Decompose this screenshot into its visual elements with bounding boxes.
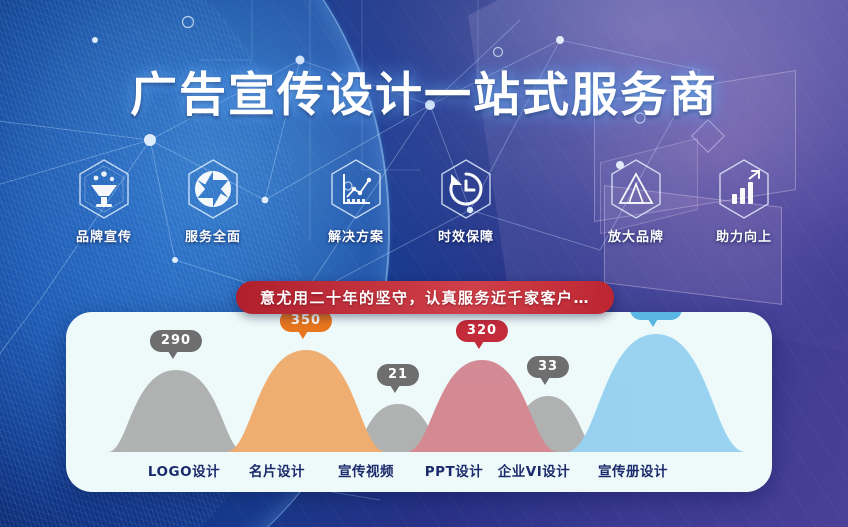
feature-label: 品牌宣传 <box>58 226 150 245</box>
hump-logo <box>108 370 244 452</box>
bubble-tail <box>168 351 178 359</box>
chart-category-label: 企业VI设计 <box>498 460 570 480</box>
chart-category-label: 名片设计 <box>249 460 305 480</box>
chart-category-label: 宣传册设计 <box>598 460 668 480</box>
page-title: 广告宣传设计一站式服务商 <box>0 56 848 125</box>
bubble-tail <box>474 341 484 349</box>
value-bubble-pill: 290 <box>150 330 202 352</box>
feature-label: 时效保障 <box>420 226 512 245</box>
bar-growth-icon <box>716 158 772 220</box>
value-bubble: 290 <box>150 330 202 359</box>
bubble-tail <box>540 377 550 385</box>
feature-item[interactable]: 时效保障 <box>420 158 512 245</box>
value-bubble: 21 <box>377 364 419 393</box>
aperture-icon <box>185 158 241 220</box>
bubble-tail <box>298 331 308 339</box>
tagline-text: 意尤用二十年的坚守，认真服务近千家客户… <box>260 287 590 308</box>
value-bubble-pill: 320 <box>456 320 508 342</box>
bell-curve-chart: 290 350 21 320 33 560 <box>66 312 772 452</box>
bubble-tail <box>648 319 658 327</box>
feature-label: 解决方案 <box>310 226 402 245</box>
megaphone-icon <box>76 158 132 220</box>
chart-category-label: PPT设计 <box>425 460 484 480</box>
feature-item[interactable]: 服务全面 <box>167 158 259 245</box>
value-bubble: 320 <box>456 320 508 349</box>
triangle-icon <box>608 158 664 220</box>
analytics-icon <box>328 158 384 220</box>
feature-item[interactable]: 品牌宣传 <box>58 158 150 245</box>
chart-category-axis: LOGO设计 名片设计 宣传视频 PPT设计 企业VI设计 宣传册设计 <box>66 454 772 492</box>
tagline-ribbon: 意尤用二十年的坚守，认真服务近千家客户… <box>236 281 614 314</box>
bubble-tail <box>390 385 400 393</box>
value-bubble-pill: 21 <box>377 364 419 386</box>
value-bubble-pill: 33 <box>527 356 569 378</box>
feature-label: 放大品牌 <box>590 226 682 245</box>
value-bubble: 350 <box>280 312 332 339</box>
value-bubble: 33 <box>527 356 569 385</box>
hump-brochure <box>566 334 746 452</box>
chart-category-label: 宣传视频 <box>338 460 394 480</box>
feature-icon-row: 品牌宣传 服务全面 <box>56 158 796 250</box>
chart-card: 290 350 21 320 33 560 <box>66 312 772 492</box>
feature-item[interactable]: 解决方案 <box>310 158 402 245</box>
feature-label: 服务全面 <box>167 226 259 245</box>
promo-poster: 广告宣传设计一站式服务商 品牌宣传 <box>0 0 848 527</box>
feature-item[interactable]: 助力向上 <box>698 158 790 245</box>
hump-card <box>226 350 386 452</box>
feature-label: 助力向上 <box>698 226 790 245</box>
clock-rewind-icon <box>438 158 494 220</box>
value-bubble: 560 <box>630 312 682 327</box>
value-bubble-pill: 350 <box>280 312 332 332</box>
chart-category-label: LOGO设计 <box>148 460 220 480</box>
feature-item[interactable]: 放大品牌 <box>590 158 682 245</box>
